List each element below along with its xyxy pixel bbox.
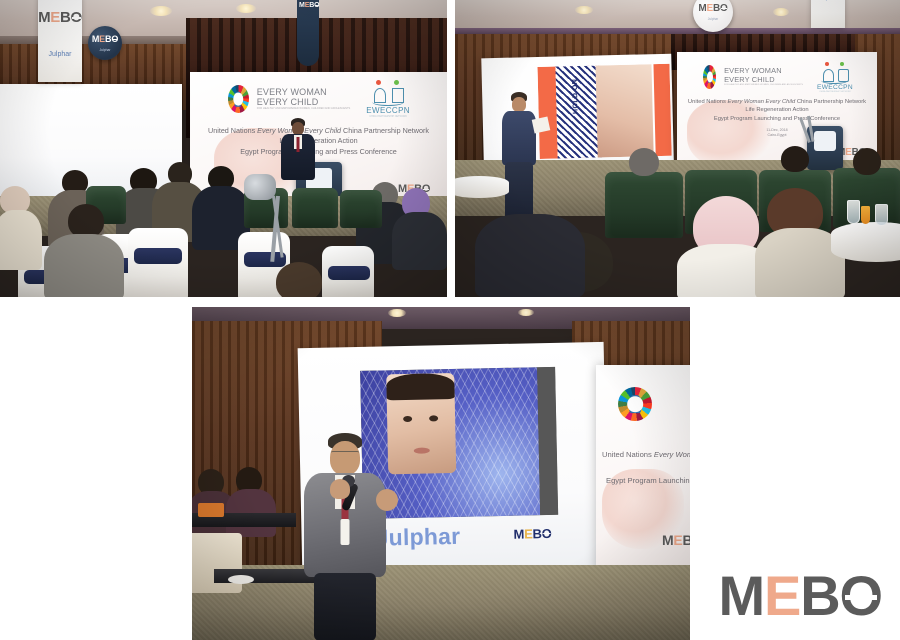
mebo-letter-m: M bbox=[698, 4, 706, 14]
ceiling-light bbox=[518, 309, 534, 316]
backdrop-line-1-a: United Nations bbox=[688, 99, 728, 105]
backdrop-logos: EVERY WOMAN EVERY CHILD FOR HEALTHY AND … bbox=[703, 62, 853, 92]
photo-speaker-with-microphone[interactable]: Speaker in a gray suit holding a microph… bbox=[192, 307, 690, 640]
banquet-chair bbox=[605, 172, 683, 238]
av-equipment bbox=[198, 503, 224, 517]
eweccpn-tagline: CHINA PARTNERSHIP NETWORK bbox=[819, 91, 850, 93]
mebo-wordmark: MEBO bbox=[698, 4, 727, 14]
audience-torso-foreground bbox=[475, 214, 585, 297]
backdrop-line-1-b: Every Woman Every Child bbox=[654, 450, 690, 459]
presenter-standing bbox=[495, 92, 543, 232]
mebo-hanging-strip: MEBO bbox=[297, 0, 319, 66]
backdrop-text-block: United Nations Every Woman Every Child bbox=[602, 449, 690, 460]
mebo-letter-o: O bbox=[111, 35, 118, 44]
mebo-letter-e: E bbox=[50, 10, 60, 25]
event-backdrop-banner: United Nations Every Woman Every Child E… bbox=[596, 365, 690, 571]
photo-collage: Wide view of the conference hall — speak… bbox=[0, 0, 900, 640]
slide-side-band-right bbox=[537, 367, 558, 515]
speaker-head bbox=[330, 441, 360, 475]
julphar-wordmark: Julphar bbox=[708, 17, 718, 21]
julphar-wordmark: Julphar bbox=[817, 0, 840, 1]
eweccpn-ground-line bbox=[372, 98, 404, 106]
eweccpn-tagline: CHINA PARTNERSHIP NETWORK bbox=[369, 115, 407, 118]
every-woman-every-child-logo: EVERY WOMAN EVERY CHILD FOR HEALTHY AND … bbox=[724, 67, 803, 86]
scene-presenter: MEBO Julphar Julphar HOLD ON Julphar bbox=[455, 0, 900, 297]
julphar-wordmark: Julphar bbox=[49, 51, 72, 58]
backdrop-line-1-b: Every Woman Every Child bbox=[728, 99, 796, 105]
event-backdrop-banner: EVERY WOMAN EVERY CHILD FOR HEALTHY AND … bbox=[677, 52, 877, 170]
mebo-letter-b: B bbox=[800, 568, 839, 624]
sdg-figures bbox=[707, 71, 711, 83]
ewec-line-1: EVERY WOMAN bbox=[724, 67, 803, 74]
mebo-letter-e: E bbox=[524, 527, 533, 540]
mebo-wordmark: MEBO bbox=[299, 2, 319, 9]
eweccpn-figures-icon bbox=[821, 62, 849, 84]
ewec-line-2: EVERY CHILD bbox=[257, 98, 351, 107]
mebo-letter-b: B bbox=[60, 10, 71, 25]
mebo-letter-e: E bbox=[764, 568, 800, 624]
photo-presenter-with-screen[interactable]: Presenter in a blue jacket standing besi… bbox=[455, 0, 900, 297]
speaker-badge bbox=[341, 519, 350, 545]
backdrop-line-3: Egypt Program Launching and Press Confer… bbox=[677, 115, 877, 123]
banquet-chair bbox=[340, 190, 382, 228]
audience-head bbox=[781, 146, 809, 172]
mebo-letter-m: M bbox=[662, 533, 673, 547]
audience-torso-foreground bbox=[0, 210, 42, 270]
mebo-letter-e: E bbox=[673, 533, 682, 547]
slide-hold-on-text: HOLD ON bbox=[572, 79, 580, 114]
ceiling-light bbox=[150, 6, 172, 16]
julphar-wordmark: Julphar bbox=[99, 48, 110, 52]
sdg-wheel-icon bbox=[703, 65, 716, 89]
tote-bag bbox=[192, 533, 242, 593]
julphar-roll-up-banner: Julphar bbox=[811, 0, 845, 28]
audience-torso bbox=[392, 212, 447, 270]
scene-speaker: Julphar MEBO United Nations Every Woman … bbox=[192, 307, 690, 640]
backdrop-mebo-logo: MEBO bbox=[662, 533, 690, 547]
eweccpn-dot-red bbox=[825, 62, 829, 66]
slide-mebo-logo: MEBO bbox=[513, 527, 551, 541]
drinking-glass bbox=[847, 200, 860, 224]
eweccpn-name: EWECCPN bbox=[817, 84, 853, 91]
speaker-hand-right bbox=[376, 489, 398, 511]
mebo-wordmark: MEBO bbox=[718, 568, 882, 624]
mebo-wordmark: MEBO bbox=[38, 10, 82, 25]
mebo-letter-b: B bbox=[682, 533, 690, 547]
mebo-letter-b: B bbox=[713, 4, 720, 14]
photo-conference-hall-wide[interactable]: Wide view of the conference hall — speak… bbox=[0, 0, 447, 297]
slide-child-eye-left bbox=[403, 416, 412, 422]
backdrop-line-1-c: China Partnership Network bbox=[795, 99, 866, 105]
eweccpn-dot-green bbox=[840, 62, 844, 66]
chair-bow bbox=[328, 266, 370, 280]
backdrop-date-block: 11-Dec, 2018 Cairo-Egypt bbox=[677, 128, 877, 138]
backdrop-line-1: United Nations Every Woman Every Child bbox=[602, 449, 690, 460]
speaker-with-microphone bbox=[290, 433, 400, 640]
mebo-letter-o: O bbox=[720, 4, 728, 14]
ceiling-light bbox=[388, 309, 406, 317]
sdg-figures bbox=[235, 92, 242, 107]
backdrop-line-1-c: China Partnership Network bbox=[341, 126, 429, 135]
mebo-round-sign: MEBO Julphar bbox=[88, 26, 122, 60]
eweccpn-logo: EWECCPN CHINA PARTNERSHIP NETWORK bbox=[366, 80, 410, 118]
slide-child-face bbox=[595, 64, 653, 157]
audience-head bbox=[629, 148, 659, 176]
audience-head bbox=[853, 148, 881, 175]
banquet-table bbox=[831, 222, 900, 262]
speaker-trousers bbox=[314, 573, 376, 640]
slide-child-hair bbox=[386, 373, 455, 400]
mebo-letter-b: B bbox=[532, 527, 541, 540]
audience-head-foreground bbox=[68, 204, 104, 238]
backdrop-place: Cairo-Egypt bbox=[677, 133, 877, 138]
audience-torso-foreground bbox=[44, 234, 124, 297]
eweccpn-figures-icon bbox=[371, 80, 405, 106]
sdg-wheel-icon bbox=[618, 387, 652, 421]
ceiling-light bbox=[575, 6, 593, 14]
backdrop-line-1-a: United Nations bbox=[602, 450, 654, 459]
backdrop-line-1-a: United Nations bbox=[208, 126, 257, 135]
mebo-roll-up-banner: MEBO Julphar bbox=[38, 0, 82, 82]
slide-orange-band-right bbox=[653, 64, 671, 156]
presentation-slide: HOLD ON bbox=[537, 64, 671, 159]
saucer-plate bbox=[228, 575, 254, 584]
mebo-letter-o: O bbox=[314, 2, 319, 9]
slide-child-eye-right bbox=[429, 415, 438, 421]
backdrop-text-block-2: Egypt Program Launching and Press Confer… bbox=[606, 475, 690, 486]
eweccpn-ground-line bbox=[821, 77, 848, 84]
scene-conference-hall: EVERY WOMAN EVERY CHILD FOR HEALTHY AND … bbox=[0, 0, 447, 297]
backdrop-text-block: United Nations Every Woman Every Child C… bbox=[677, 98, 877, 123]
backdrop-line-3: Egypt Program Launching and Press Confer… bbox=[606, 475, 690, 486]
backdrop-line-2: Life Regeneration Action bbox=[677, 106, 877, 114]
speaker-at-podium bbox=[276, 118, 320, 180]
banquet-chair bbox=[292, 188, 338, 228]
mebo-letter-o: O bbox=[71, 10, 82, 25]
backdrop-line-1: United Nations Every Woman Every Child C… bbox=[677, 98, 877, 106]
mebo-letter-m: M bbox=[92, 35, 99, 44]
speaker-tie bbox=[297, 137, 300, 152]
backdrop-logos: EVERY WOMAN EVERY CHILD FOR HEALTHY AND … bbox=[228, 82, 410, 116]
speaker-hand-left bbox=[330, 479, 350, 499]
drinking-glass bbox=[875, 204, 888, 226]
mebo-wordmark: MEBO bbox=[662, 533, 690, 547]
mebo-wordmark: MEBO bbox=[513, 527, 551, 541]
ewec-line-2: EVERY CHILD bbox=[724, 76, 803, 83]
ceiling-light bbox=[773, 8, 789, 16]
mebo-letter-m: M bbox=[513, 528, 524, 541]
ceiling-light bbox=[236, 4, 256, 13]
every-woman-every-child-logo: EVERY WOMAN EVERY CHILD FOR HEALTHY AND … bbox=[257, 88, 351, 111]
ewec-line-1: EVERY WOMAN bbox=[257, 88, 351, 97]
juice-glass bbox=[861, 206, 870, 224]
mebo-wordmark: MEBO bbox=[92, 35, 118, 44]
chair-bow bbox=[134, 248, 182, 264]
eweccpn-logo: EWECCPN CHINA PARTNERSHIP NETWORK bbox=[817, 62, 853, 93]
speaker-eyeglasses bbox=[331, 451, 359, 457]
mebo-letter-m: M bbox=[38, 10, 50, 25]
mebo-letter-m: M bbox=[718, 568, 764, 624]
eweccpn-dot-red bbox=[376, 80, 381, 85]
eweccpn-name: EWECCPN bbox=[366, 106, 410, 115]
sdg-wheel-icon bbox=[228, 85, 249, 113]
ewec-subline: FOR HEALTHY AND EMPOWERED WOMEN, CHILDRE… bbox=[724, 84, 803, 86]
slide-child-mouth bbox=[414, 447, 430, 453]
podium-eweccpn-plate bbox=[814, 131, 836, 151]
ewec-subline: FOR HEALTHY AND EMPOWERED WOMEN, CHILDRE… bbox=[257, 108, 351, 111]
presenter-head bbox=[512, 97, 526, 112]
eweccpn-dot-green bbox=[394, 80, 399, 85]
mebo-letter-o: O bbox=[542, 527, 552, 540]
mebo-letter-o: O bbox=[840, 568, 882, 624]
sdg-figures bbox=[629, 395, 641, 413]
side-table bbox=[455, 176, 509, 198]
audience-head-foreground bbox=[276, 262, 322, 297]
mebo-watermark: MEBO bbox=[718, 568, 882, 624]
